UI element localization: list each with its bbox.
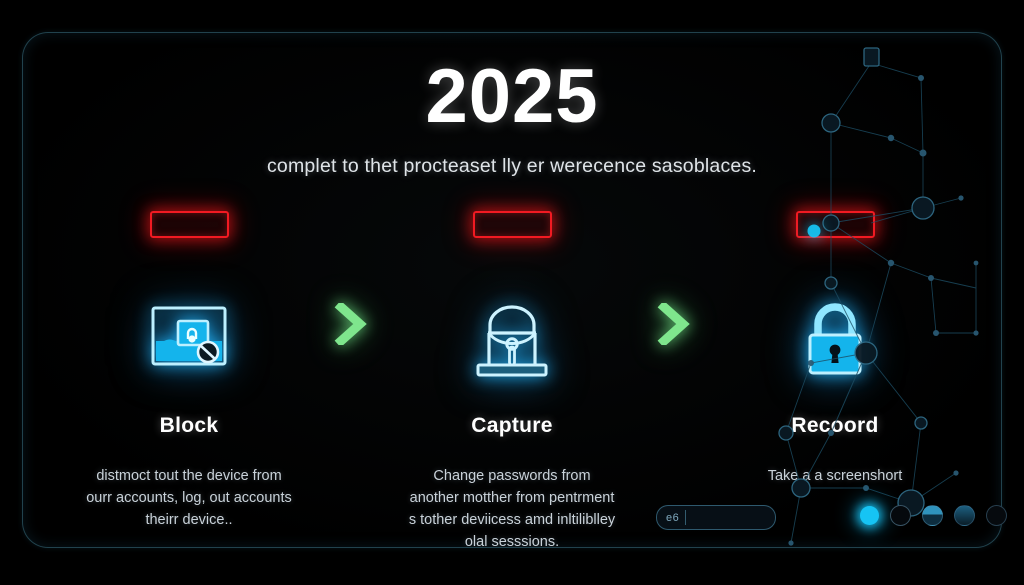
step-body: distmoct tout the device from ourr accou… [84,465,294,531]
step-card-block[interactable]: Block distmoct tout the device from ourr… [57,211,322,531]
step-title: Block [160,414,219,438]
screen-block-icon [150,305,228,371]
pagination-dot[interactable] [986,505,1007,526]
pagination-dot[interactable] [890,505,911,526]
pagination-dots[interactable] [860,505,1007,526]
step-body: Change passwords from another motther fr… [407,465,617,548]
slide-root: 2025 complet to thet procteaset lly er w… [0,0,1024,585]
step-badge [796,211,875,238]
step-body: Take a a screenshort [730,465,940,487]
step-icon-wrap [150,286,228,390]
padlock-icon [802,298,868,378]
search-input[interactable]: e6 [656,505,776,530]
step-title: Recoord [791,414,878,438]
vault-lock-icon [472,297,552,379]
chevron-right-icon [334,303,368,345]
search-tag: e6 [657,512,685,524]
step-icon-wrap [802,286,868,390]
steps-row: Block distmoct tout the device from ourr… [23,211,1001,548]
search-divider [685,510,686,525]
step-card-record[interactable]: Recoord Take a a screenshort [703,211,968,487]
step-title: Capture [471,414,552,438]
step-badge [473,211,552,238]
pagination-dot[interactable] [922,505,943,526]
step-separator-2 [645,211,703,345]
step-badge [150,211,229,238]
pagination-dot-active[interactable] [860,506,879,525]
chevron-right-icon [657,303,691,345]
step-icon-wrap [472,286,552,390]
pagination-dot[interactable] [954,505,975,526]
page-subtitle: complet to thet procteaset lly er werece… [23,155,1001,178]
step-separator-1 [322,211,380,345]
slide-frame: 2025 complet to thet procteaset lly er w… [22,32,1002,548]
page-title: 2025 [23,59,1001,135]
step-card-capture[interactable]: Capture Change passwords from another mo… [380,211,645,548]
